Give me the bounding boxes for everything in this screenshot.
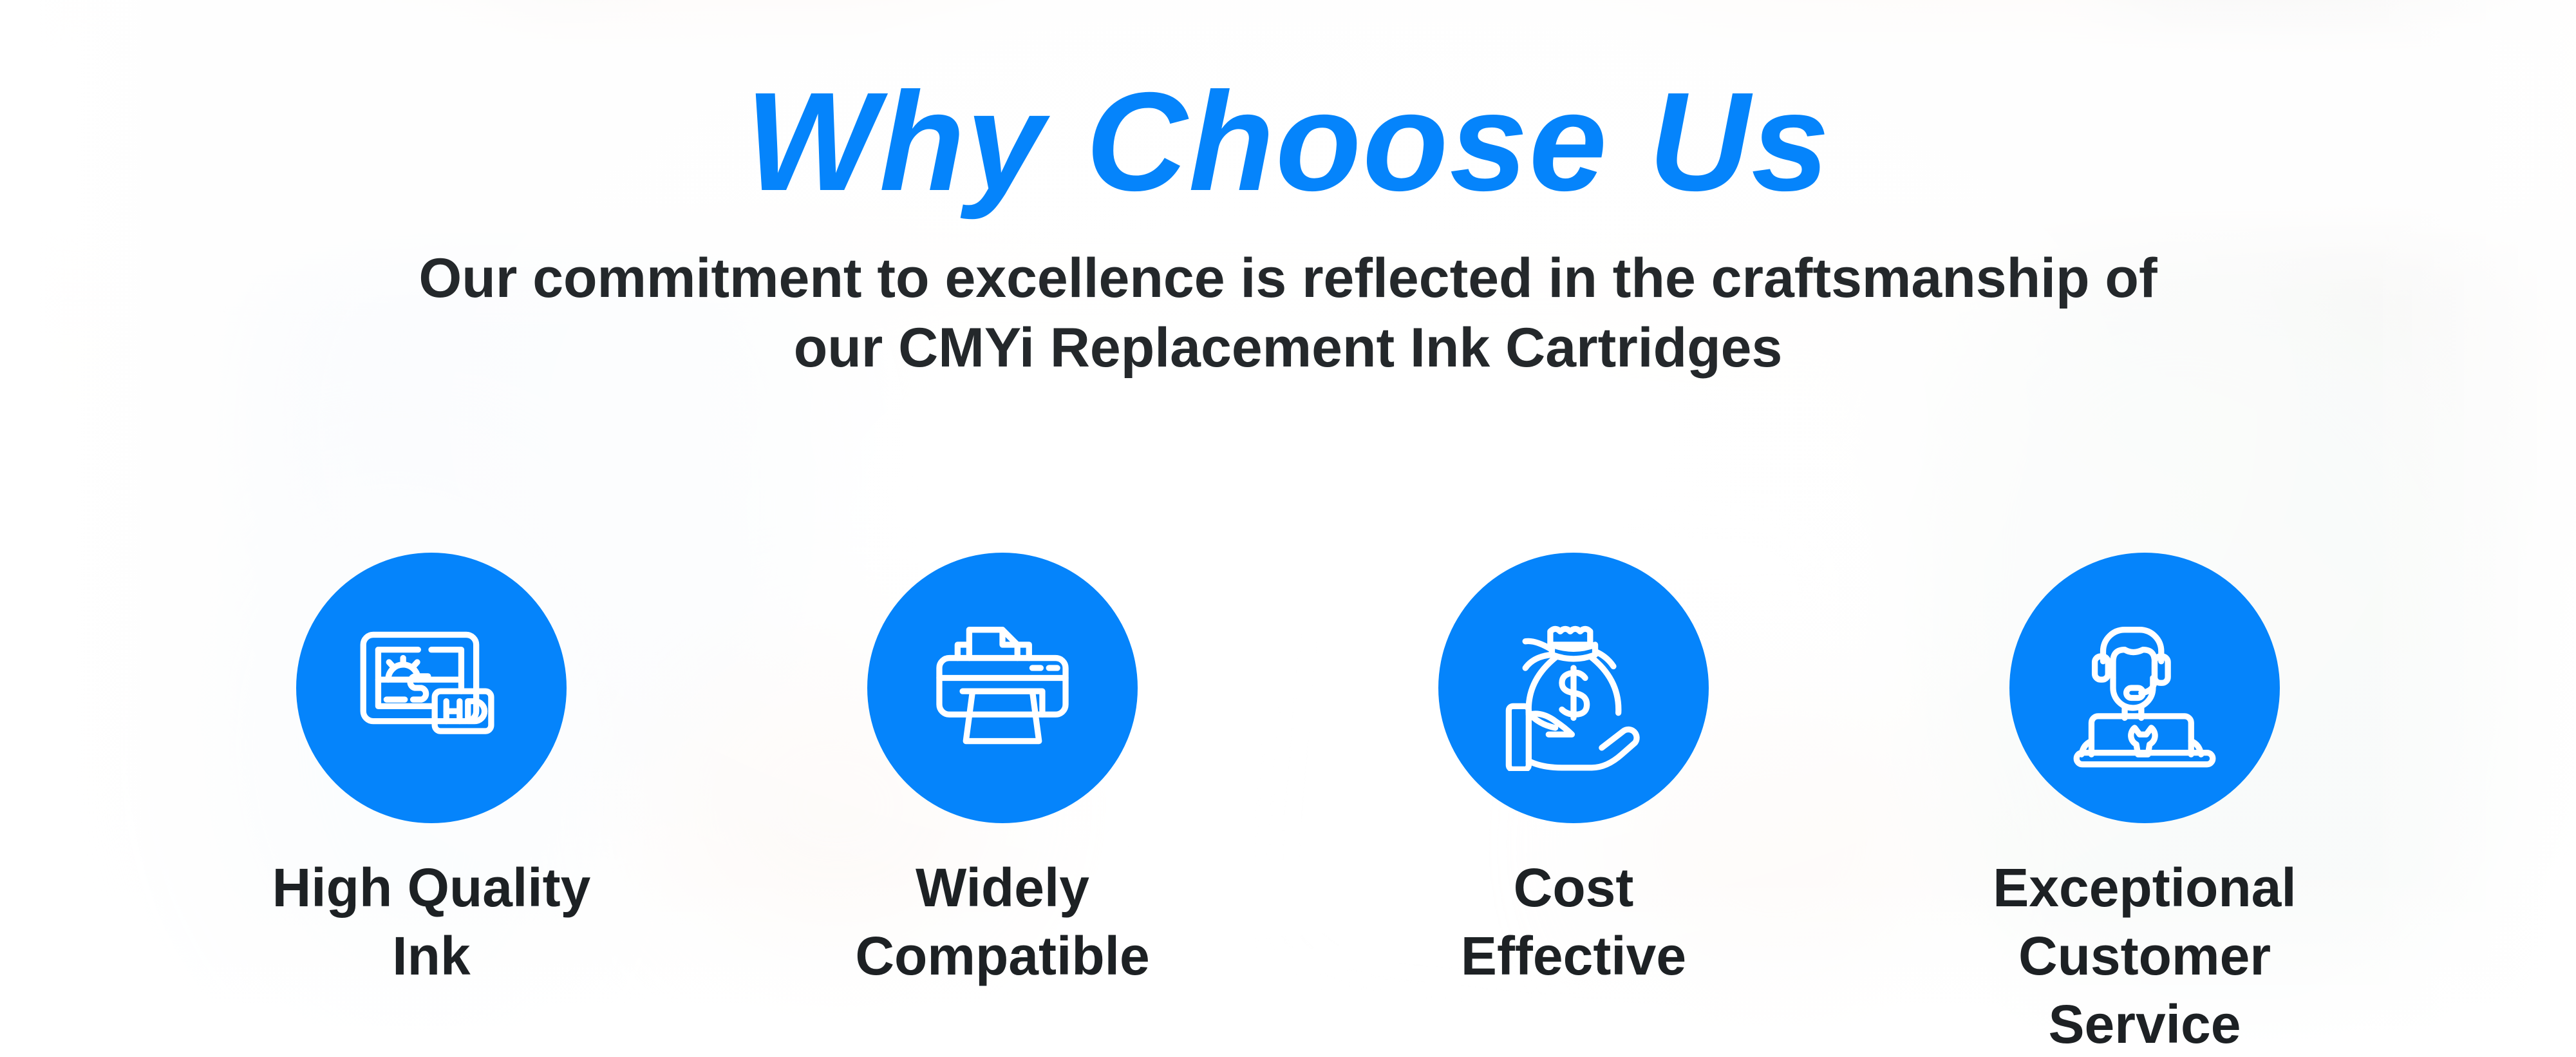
feature-icon-badge xyxy=(867,553,1138,823)
feature-icon-badge xyxy=(296,553,567,823)
hd-monitor-display-icon xyxy=(348,605,514,771)
feature-item-widely-compatible: Widely Compatible xyxy=(790,553,1215,991)
feature-icon-badge xyxy=(2009,553,2280,823)
feature-label: Exceptional Customer Service xyxy=(1932,854,2357,1057)
page-title: Why Choose Us xyxy=(746,0,1830,213)
why-choose-us-banner: Why Choose Us Our commitment to excellen… xyxy=(0,0,2576,1057)
hand-holding-money-bag-icon xyxy=(1490,605,1657,771)
feature-label: High Quality Ink xyxy=(272,854,591,991)
support-agent-headset-laptop-icon xyxy=(2062,605,2228,771)
feature-item-high-quality-ink: High Quality Ink xyxy=(219,553,644,991)
feature-icon-badge xyxy=(1438,553,1709,823)
feature-label: Widely Compatible xyxy=(855,854,1149,991)
feature-list: High Quality Ink xyxy=(219,553,2357,1057)
printer-icon xyxy=(919,605,1086,771)
feature-item-customer-service: Exceptional Customer Service xyxy=(1932,553,2357,1057)
subtitle: Our commitment to excellence is reflecte… xyxy=(377,213,2199,383)
feature-label: Cost Effective xyxy=(1461,854,1686,991)
feature-item-cost-effective: Cost Effective xyxy=(1361,553,1786,991)
banner-content: Why Choose Us Our commitment to excellen… xyxy=(0,0,2576,1057)
